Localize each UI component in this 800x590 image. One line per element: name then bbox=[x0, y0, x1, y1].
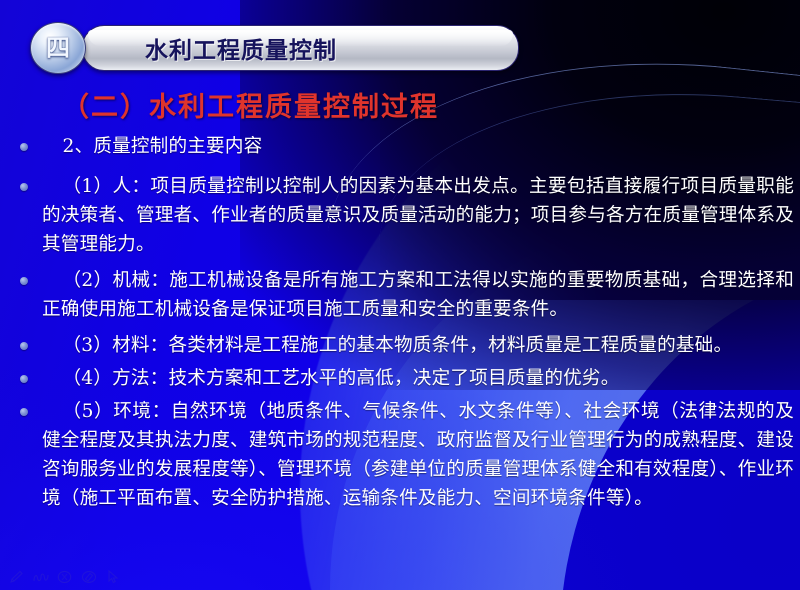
bullet-item: （4）方法：技术方案和工艺水平的高低，决定了项目质量的优劣。 bbox=[12, 364, 794, 393]
presentation-slide: 水利工程质量控制 四 （二）水利工程质量控制过程 2、质量控制的主要内容 （1）… bbox=[0, 0, 800, 590]
bullet-marker-icon bbox=[20, 277, 28, 285]
bullet-text: （1）人：项目质量控制以控制人的因素为基本出发点。主要包括直接履行项目质量职能的… bbox=[42, 172, 794, 259]
eraser-icon[interactable] bbox=[56, 569, 73, 584]
section-number-badge: 四 bbox=[30, 22, 86, 74]
bullet-text: （3）材料：各类材料是工程施工的基本物质条件，材料质量是工程质量的基础。 bbox=[42, 331, 794, 360]
bullet-marker-icon bbox=[20, 183, 28, 191]
bullet-text: （2）机械：施工机械设备是所有施工方案和工法得以实施的重要物质基础，合理选择和正… bbox=[42, 266, 794, 324]
bullet-text: （4）方法：技术方案和工艺水平的高低，决定了项目质量的优劣。 bbox=[42, 364, 794, 393]
bullet-item: （1）人：项目质量控制以控制人的因素为基本出发点。主要包括直接履行项目质量职能的… bbox=[12, 172, 794, 259]
bullet-marker-icon bbox=[20, 375, 28, 383]
slide-body: 2、质量控制的主要内容 （1）人：项目质量控制以控制人的因素为基本出发点。主要包… bbox=[12, 132, 794, 520]
page-title: 水利工程质量控制 bbox=[145, 31, 337, 65]
pen-icon[interactable] bbox=[8, 569, 25, 584]
bullet-text: 2、质量控制的主要内容 bbox=[42, 132, 794, 161]
pointer-icon[interactable] bbox=[104, 569, 121, 584]
bullet-item: （3）材料：各类材料是工程施工的基本物质条件，材料质量是工程质量的基础。 bbox=[12, 331, 794, 360]
slideshow-annotation-toolbar[interactable] bbox=[8, 569, 121, 584]
highlighter-icon[interactable] bbox=[80, 569, 97, 584]
bullet-text: （5）环境：自然环境（地质条件、气候条件、水文条件等）、社会环境（法律法规的及健… bbox=[42, 397, 794, 513]
bullet-item: （2）机械：施工机械设备是所有施工方案和工法得以实施的重要物质基础，合理选择和正… bbox=[12, 266, 794, 324]
bullet-marker-icon bbox=[20, 342, 28, 350]
bullet-marker-icon bbox=[20, 408, 28, 416]
bullet-item: （5）环境：自然环境（地质条件、气候条件、水文条件等）、社会环境（法律法规的及健… bbox=[12, 397, 794, 513]
slide-header-banner: 水利工程质量控制 四 bbox=[30, 22, 517, 72]
slide-subtitle: （二）水利工程质量控制过程 bbox=[62, 85, 439, 124]
section-number-label: 四 bbox=[46, 36, 70, 60]
squiggle-icon[interactable] bbox=[32, 569, 49, 584]
bullet-item: 2、质量控制的主要内容 bbox=[12, 132, 794, 161]
bullet-marker-icon bbox=[20, 143, 28, 151]
